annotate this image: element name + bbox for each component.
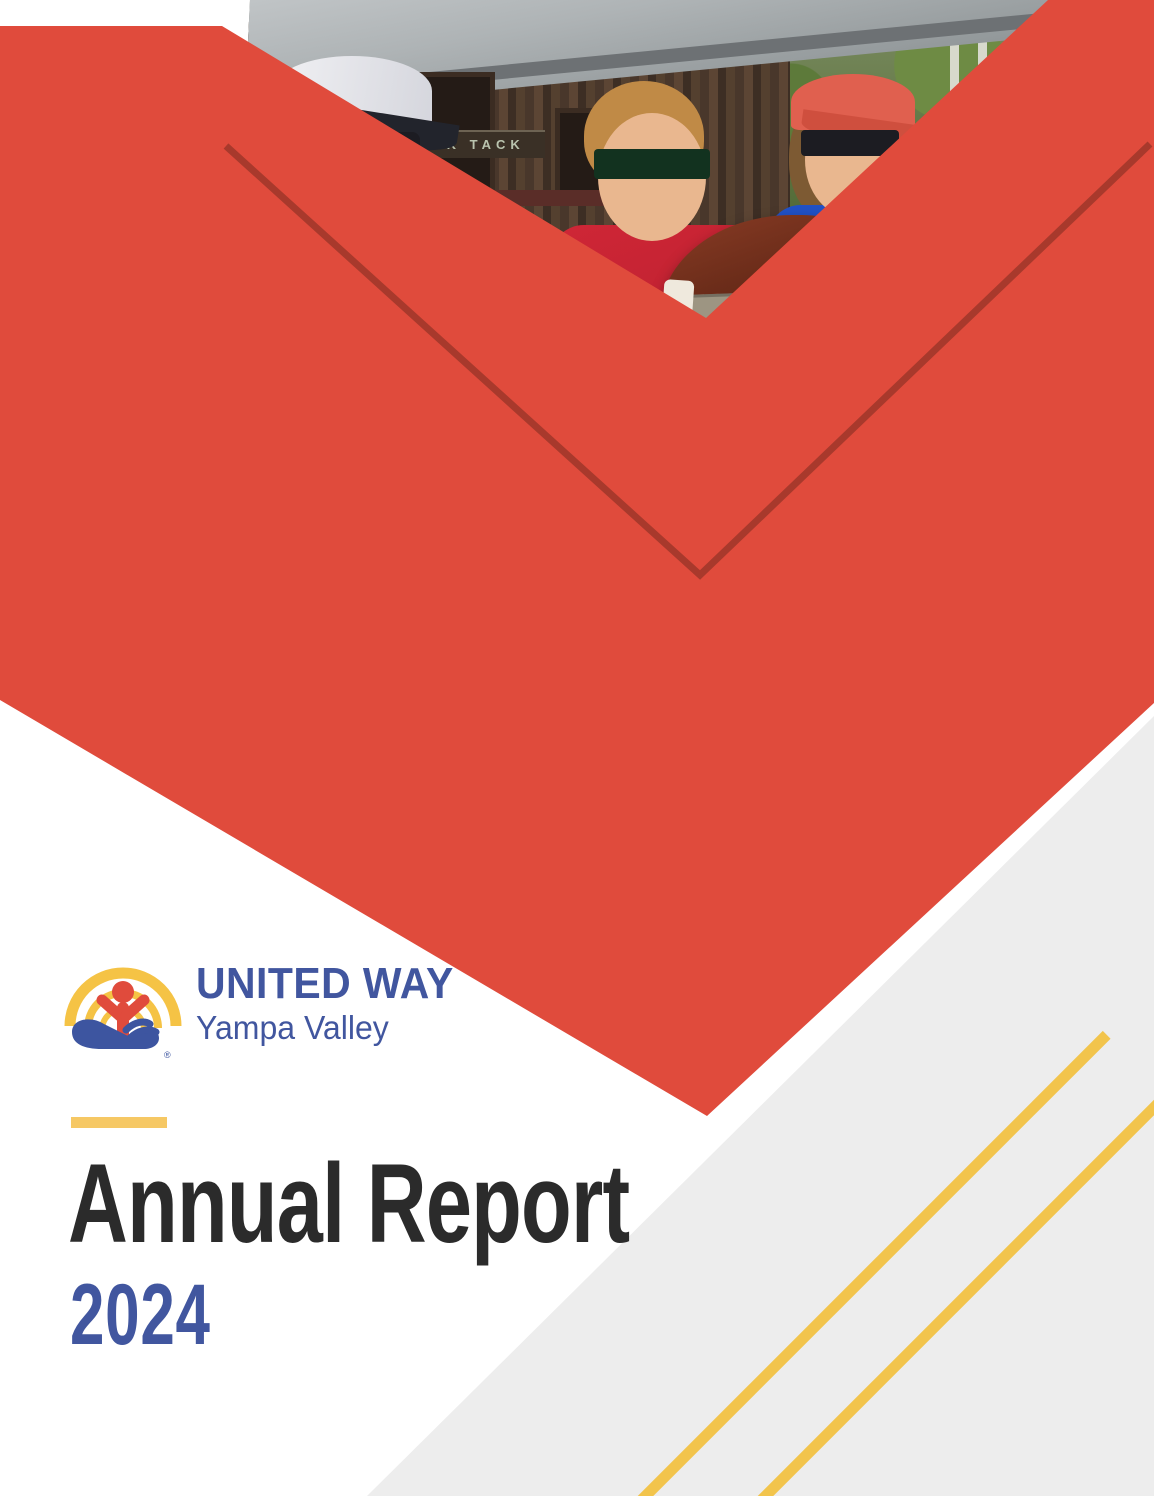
yellow-accent-bar	[71, 1117, 167, 1128]
svg-text:®: ®	[164, 1050, 171, 1060]
brand-name-secondary: Yampa Valley	[196, 1010, 465, 1046]
united-way-logo-icon: ®	[64, 948, 182, 1060]
page-title: Annual Report	[68, 1148, 629, 1260]
brand-lockup: ® UNITED WAY Yampa Valley	[64, 948, 704, 1060]
page-title-year: 2024	[70, 1272, 211, 1358]
brand-name-primary: UNITED WAY	[196, 962, 454, 1006]
report-cover-page: PACK TACK	[0, 0, 1154, 1496]
